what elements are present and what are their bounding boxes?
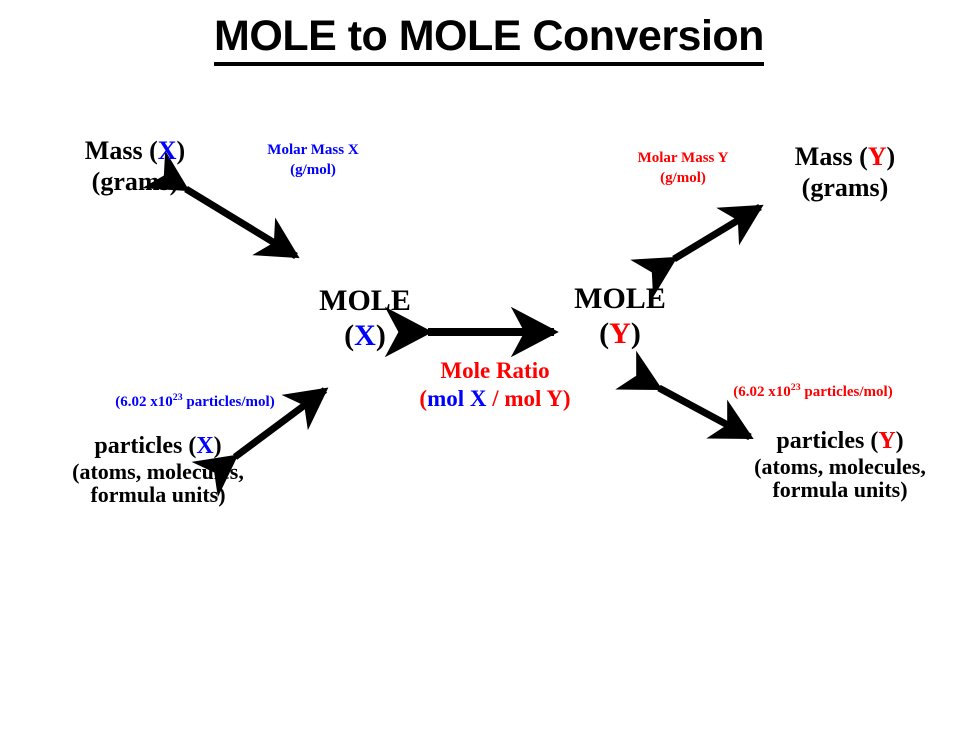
node-mass-y: Mass (Y) (grams)	[750, 142, 940, 203]
mole-y-paren-open: (	[599, 317, 609, 350]
node-mole-y-line2: (Y)	[540, 317, 700, 352]
mole-ratio-line2: (mol X / mol Y)	[390, 385, 600, 413]
mole-ratio-line1: Mole Ratio	[390, 357, 600, 385]
mass-y-prefix: Mass (	[795, 142, 868, 171]
mass-x-symbol: X	[158, 136, 177, 165]
mass-x-suffix: )	[177, 136, 186, 165]
mole-x-symbol: X	[354, 319, 376, 352]
node-mole-x: MOLE (X)	[285, 284, 445, 353]
annotation-avogadro-x: (6.02 x1023 particles/mol)	[90, 393, 300, 413]
mole-x-paren-close: )	[376, 319, 386, 352]
avogadro-x-suffix: particles/mol)	[183, 394, 275, 410]
annotation-mole-ratio: Mole Ratio (mol X / mol Y)	[390, 357, 600, 412]
mole-ratio-slash: /	[486, 386, 504, 411]
mass-y-symbol: Y	[868, 142, 887, 171]
node-mass-y-line1: Mass (Y)	[750, 142, 940, 173]
mole-ratio-paren-open: (	[419, 386, 427, 411]
node-particles-y: particles (Y) (atoms, molecules, formula…	[710, 428, 970, 501]
node-particles-x: particles (X) (atoms, molecules, formula…	[28, 433, 288, 506]
particles-y-suffix: )	[896, 428, 904, 454]
node-mass-x-line2: (grams)	[40, 167, 230, 198]
node-mole-x-line1: MOLE	[285, 284, 445, 319]
page-title-text: MOLE to MOLE Conversion	[214, 14, 764, 66]
node-particles-y-line1: particles (Y)	[710, 428, 970, 455]
avogadro-y-prefix: (6.02 x10	[733, 384, 791, 400]
node-mole-x-line2: (X)	[285, 319, 445, 354]
node-particles-y-line2: (atoms, molecules,	[710, 455, 970, 478]
arrow-mass-x-to-mole-x	[186, 189, 296, 256]
mole-x-paren-open: (	[344, 319, 354, 352]
mass-x-prefix: Mass (	[85, 136, 158, 165]
avogadro-x-prefix: (6.02 x10	[115, 394, 173, 410]
node-mass-y-line2: (grams)	[750, 173, 940, 204]
particles-y-symbol: Y	[878, 428, 895, 454]
node-mole-y: MOLE (Y)	[540, 282, 700, 351]
molar-mass-x-line2: (g/mol)	[218, 161, 408, 181]
node-particles-y-line3: formula units)	[710, 478, 970, 501]
annotation-molar-mass-x: Molar Mass X (g/mol)	[218, 141, 408, 180]
node-particles-x-line2: (atoms, molecules,	[28, 460, 288, 483]
node-mole-y-line1: MOLE	[540, 282, 700, 317]
mole-y-symbol: Y	[609, 317, 631, 350]
node-particles-x-line1: particles (X)	[28, 433, 288, 460]
page-title: MOLE to MOLE Conversion	[0, 14, 978, 66]
mole-y-paren-close: )	[631, 317, 641, 350]
particles-x-symbol: X	[196, 433, 213, 459]
node-mass-x-line1: Mass (X)	[40, 136, 230, 167]
avogadro-x-exponent: 23	[173, 392, 183, 403]
mass-y-suffix: )	[887, 142, 896, 171]
molar-mass-x-line1: Molar Mass X	[218, 141, 408, 161]
annotation-avogadro-y: (6.02 x1023 particles/mol)	[708, 383, 918, 403]
particles-x-suffix: )	[214, 433, 222, 459]
avogadro-y-exponent: 23	[791, 382, 801, 393]
particles-y-prefix: particles (	[776, 428, 878, 454]
node-mass-x: Mass (X) (grams)	[40, 136, 230, 197]
node-particles-x-line3: formula units)	[28, 483, 288, 506]
arrow-mass-y-to-mole-y	[674, 207, 760, 259]
particles-x-prefix: particles (	[94, 433, 196, 459]
mole-ratio-y: mol Y)	[504, 386, 570, 411]
avogadro-y-suffix: particles/mol)	[801, 384, 893, 400]
diagram-canvas: MOLE to MOLE Conversion	[0, 0, 978, 734]
mole-ratio-x: mol X	[427, 386, 486, 411]
